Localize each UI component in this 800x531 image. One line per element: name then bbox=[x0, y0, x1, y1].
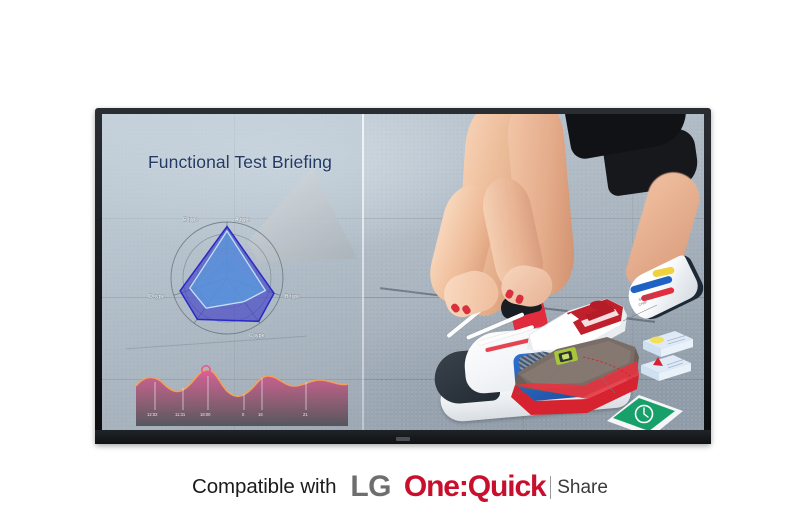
compatible-with-label: Compatible with bbox=[192, 475, 336, 499]
logo-divider-bar bbox=[550, 476, 552, 499]
smart-insole-illustration: SENSOR CHIP SOLE bbox=[511, 269, 701, 424]
area-tick-top-0: 12:02 bbox=[147, 412, 158, 417]
screen-split-divider bbox=[362, 114, 364, 430]
runner-scene: SENSOR CHIP SOLE bbox=[362, 114, 704, 430]
area-chart: 12:02 11:31 18:00 0 16 21 04:00 15:00 01… bbox=[132, 364, 352, 430]
area-chart-fill bbox=[136, 370, 348, 426]
radar-axis-label-e: E type bbox=[183, 217, 198, 223]
display-screen: SENSOR CHIP SOLE Functional Test Briefin… bbox=[102, 114, 704, 430]
area-tick-top-4: 16 bbox=[258, 412, 263, 417]
compatibility-lockup: Compatible with LG One:Quick Share bbox=[0, 466, 800, 508]
area-tick-top-5: 21 bbox=[303, 412, 308, 417]
radar-axis-label-c: C type bbox=[249, 333, 265, 339]
radar-axis-label-b: B type bbox=[285, 294, 300, 300]
share-suffix-label: Share bbox=[557, 478, 608, 497]
onequick-logo-text: One:Quick bbox=[404, 472, 546, 502]
radar-chart: A type B type C type D type E type bbox=[127, 206, 327, 351]
chart-pane: Functional Test Briefing bbox=[102, 114, 362, 430]
iso-data-cards bbox=[641, 331, 693, 381]
iso-phone bbox=[607, 395, 683, 430]
area-tick-top-1: 11:31 bbox=[175, 412, 186, 417]
page-root: SENSOR CHIP SOLE Functional Test Briefin… bbox=[0, 0, 800, 531]
lg-display-monitor: SENSOR CHIP SOLE Functional Test Briefin… bbox=[95, 108, 711, 444]
area-tick-top-2: 18:00 bbox=[200, 412, 211, 417]
page-title: Functional Test Briefing bbox=[148, 152, 332, 173]
display-brand-logo bbox=[396, 437, 410, 441]
radar-axis-label-a: A type bbox=[235, 217, 250, 223]
display-chin bbox=[95, 430, 711, 444]
lg-logo-text: LG bbox=[350, 472, 390, 502]
radar-axis-label-d: D type bbox=[149, 294, 165, 300]
